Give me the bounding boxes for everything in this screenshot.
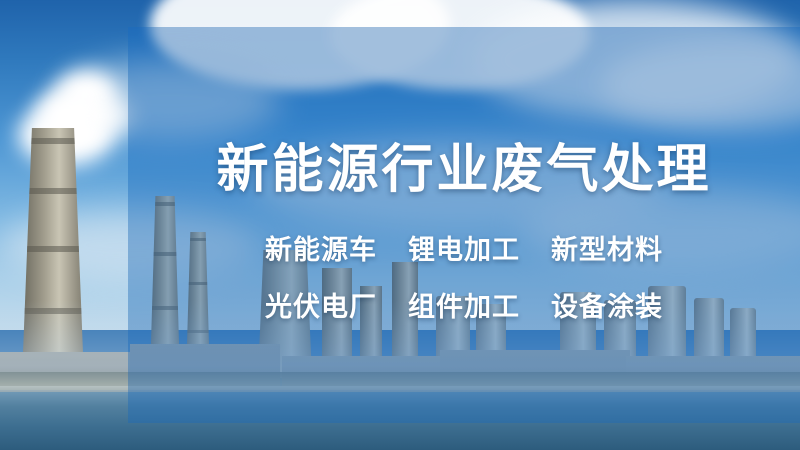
subtitle-item: 设备涂装 <box>551 292 663 322</box>
steam-plume <box>74 96 134 136</box>
subtitle-item: 光伏电厂 <box>265 292 377 322</box>
subtitle-line-1: 新能源车 锂电加工 新型材料 <box>265 228 663 267</box>
hero-banner: 新能源行业废气处理 新能源车 锂电加工 新型材料 光伏电厂 组件加工 设备涂装 <box>0 0 800 450</box>
page-title: 新能源行业废气处理 <box>216 127 711 202</box>
subtitle-item: 新型材料 <box>551 235 663 265</box>
subtitle-item: 新能源车 <box>265 235 377 265</box>
subtitle-line-2: 光伏电厂 组件加工 设备涂装 <box>265 285 663 324</box>
subtitle-item: 组件加工 <box>408 292 520 322</box>
smokestack <box>22 128 84 378</box>
banner-text-block: 新能源行业废气处理 新能源车 锂电加工 新型材料 光伏电厂 组件加工 设备涂装 <box>128 27 800 423</box>
subtitle-item: 锂电加工 <box>408 235 520 265</box>
